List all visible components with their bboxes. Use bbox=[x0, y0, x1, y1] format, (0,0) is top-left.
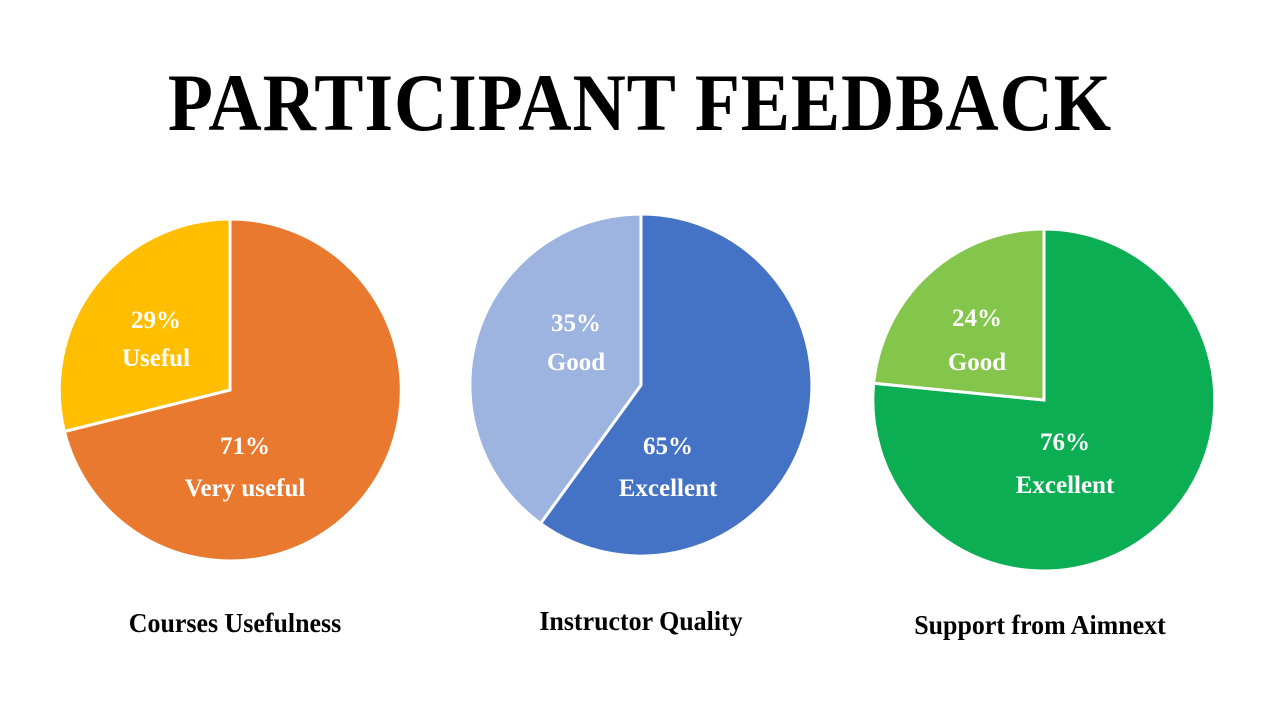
pie-slice-excellent-label: Excellent bbox=[619, 475, 718, 502]
pie-slice-very-useful-percent: 71% bbox=[220, 433, 270, 460]
pie-slice-good-label: Good bbox=[948, 349, 1006, 376]
pie-slice-excellent-percent: 65% bbox=[643, 433, 693, 460]
caption-instructor-quality: Instructor Quality bbox=[462, 606, 819, 637]
pie-slice-excellent-percent: 76% bbox=[1040, 429, 1090, 456]
pie-slice-good-label: Good bbox=[547, 349, 605, 376]
pie-slice-very-useful-label: Very useful bbox=[185, 475, 306, 502]
pie-slice-useful-percent: 29% bbox=[131, 307, 181, 334]
slide-canvas: PARTICIPANT FEEDBACK 29% Useful 71% Very… bbox=[0, 0, 1280, 720]
pie-chart-support-from-aimnext-svg: 24% Good 76% Excellent bbox=[872, 228, 1216, 572]
pie-slice-good-percent: 35% bbox=[551, 310, 601, 337]
pie-chart-instructor-quality: 35% Good 65% Excellent bbox=[469, 213, 813, 557]
caption-courses-usefulness: Courses Usefulness bbox=[9, 608, 460, 639]
pie-slice-excellent-label: Excellent bbox=[1016, 472, 1115, 499]
pie-slice-useful-label: Useful bbox=[122, 345, 190, 372]
pie-chart-support-from-aimnext: 24% Good 76% Excellent bbox=[872, 228, 1216, 572]
pie-slice-good-percent: 24% bbox=[952, 305, 1002, 332]
pie-chart-courses-usefulness: 29% Useful 71% Very useful bbox=[58, 218, 402, 562]
caption-support-from-aimnext: Support from Aimnext bbox=[848, 610, 1232, 641]
pie-chart-instructor-quality-svg: 35% Good 65% Excellent bbox=[469, 213, 813, 557]
page-title: PARTICIPANT FEEDBACK bbox=[64, 62, 1216, 144]
pie-chart-courses-usefulness-svg: 29% Useful 71% Very useful bbox=[58, 218, 402, 562]
